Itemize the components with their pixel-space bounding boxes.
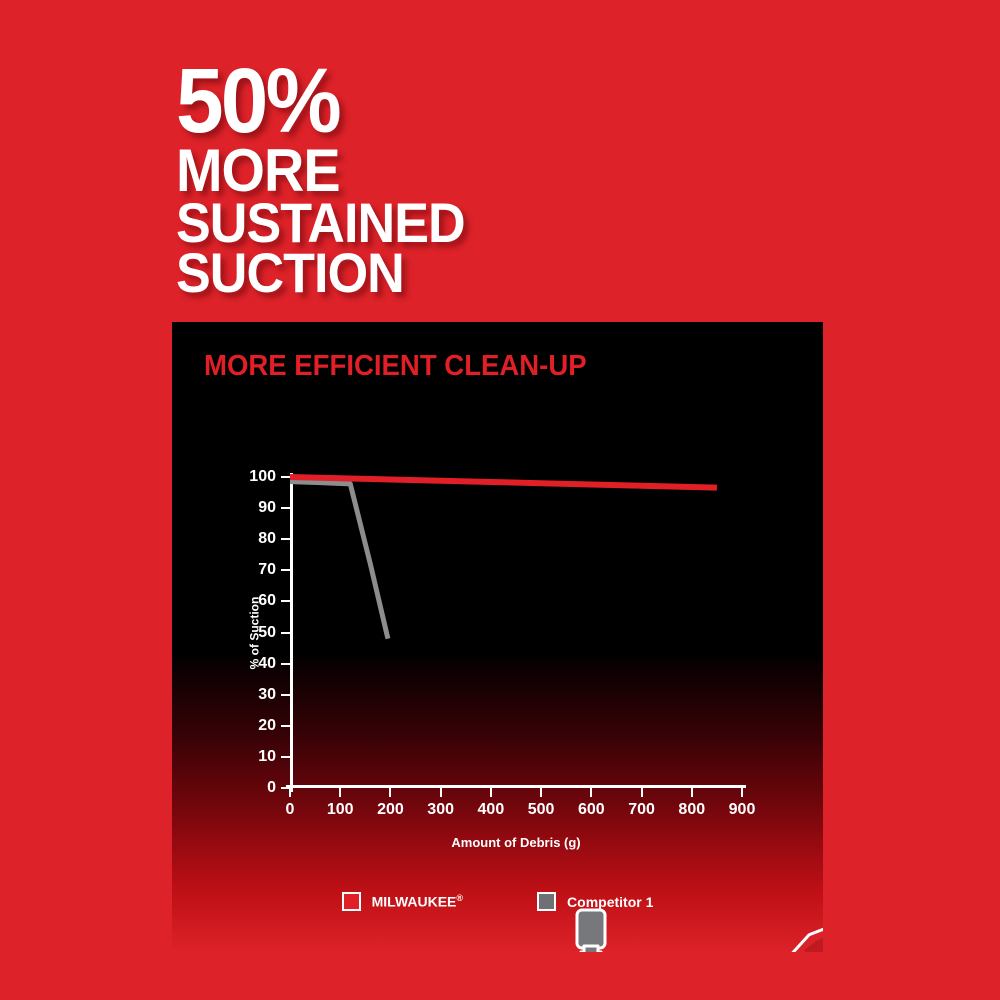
- y-tick: [281, 600, 290, 602]
- x-tick: [490, 788, 492, 797]
- x-tick: [590, 788, 592, 797]
- y-tick: [281, 538, 290, 540]
- x-axis-title: Amount of Debris (g): [451, 835, 580, 850]
- legend-swatch-competitor: [537, 892, 556, 911]
- milwaukee-vacuum-image: [784, 790, 823, 952]
- x-tick-label: 800: [678, 801, 705, 819]
- x-tick-label: 500: [528, 801, 555, 819]
- y-tick-label: 0: [267, 779, 276, 797]
- x-tick-label: 600: [578, 801, 605, 819]
- y-tick-label: 20: [258, 717, 276, 735]
- x-tick-label: 900: [729, 801, 756, 819]
- y-tick: [281, 632, 290, 634]
- legend-label-competitor: Competitor 1: [567, 894, 653, 910]
- x-tick: [741, 788, 743, 797]
- y-tick: [281, 694, 290, 696]
- y-tick-label: 50: [258, 624, 276, 642]
- y-tick: [281, 569, 290, 571]
- chart-title: MORE EFFICIENT CLEAN-UP: [204, 350, 587, 383]
- series-lines: [290, 471, 742, 788]
- x-tick: [691, 788, 693, 797]
- x-tick-label: 0: [286, 801, 295, 819]
- x-tick-label: 300: [427, 801, 454, 819]
- headline-line-3: SUSTAINED: [176, 199, 753, 247]
- y-tick-label: 100: [249, 468, 276, 486]
- chart-legend: MILWAUKEE® Competitor 1: [172, 892, 823, 911]
- headline-line-1: 50%: [176, 62, 753, 141]
- x-tick-label: 100: [327, 801, 354, 819]
- headline-line-2: MORE: [176, 145, 753, 197]
- x-tick: [289, 788, 291, 797]
- chart-panel: MORE EFFICIENT CLEAN-UP: [172, 322, 823, 952]
- competitor-vacuum-image: [560, 904, 622, 952]
- y-tick: [281, 507, 290, 509]
- x-tick: [641, 788, 643, 797]
- x-tick-label: 200: [377, 801, 404, 819]
- y-tick: [281, 663, 290, 665]
- x-tick: [339, 788, 341, 797]
- y-tick: [281, 725, 290, 727]
- legend-item-milwaukee[interactable]: MILWAUKEE®: [342, 892, 463, 911]
- y-tick-label: 40: [258, 655, 276, 673]
- x-tick-label: 400: [478, 801, 505, 819]
- y-tick-label: 10: [258, 748, 276, 766]
- competitor-line: [290, 482, 388, 639]
- y-tick-label: 30: [258, 686, 276, 704]
- y-tick: [281, 476, 290, 478]
- x-tick: [389, 788, 391, 797]
- x-tick: [440, 788, 442, 797]
- headline-line-4: SUCTION: [176, 249, 753, 297]
- y-tick-label: 70: [258, 561, 276, 579]
- plot-area: % of Suction Amount of Debris (g) 010203…: [290, 477, 742, 788]
- y-tick-label: 80: [258, 530, 276, 548]
- legend-label-milwaukee: MILWAUKEE®: [372, 893, 463, 910]
- x-tick-label: 700: [628, 801, 655, 819]
- x-tick: [540, 788, 542, 797]
- y-tick-label: 60: [258, 592, 276, 610]
- headline-block: 50% MORE SUSTAINED SUCTION: [176, 62, 796, 297]
- milwaukee-line: [290, 477, 717, 488]
- legend-item-competitor[interactable]: Competitor 1: [537, 892, 653, 911]
- y-tick: [281, 756, 290, 758]
- legend-swatch-milwaukee: [342, 892, 361, 911]
- y-tick-label: 90: [258, 499, 276, 517]
